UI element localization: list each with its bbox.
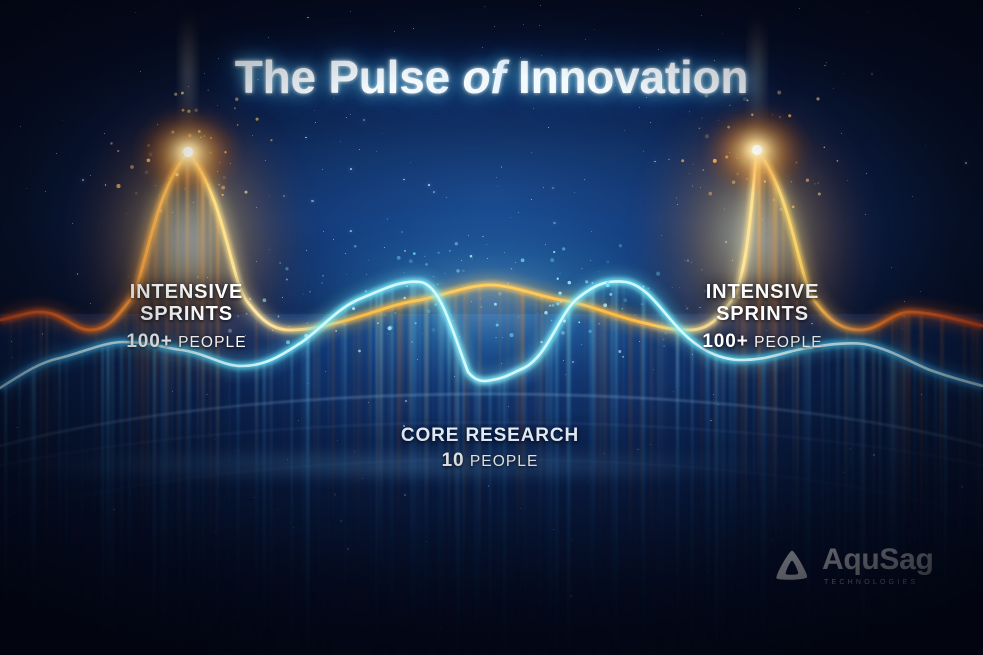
poster-canvas: The Pulse of Innovation INTENSIVE SPRINT… bbox=[0, 0, 983, 655]
background-vignette bbox=[0, 0, 983, 655]
